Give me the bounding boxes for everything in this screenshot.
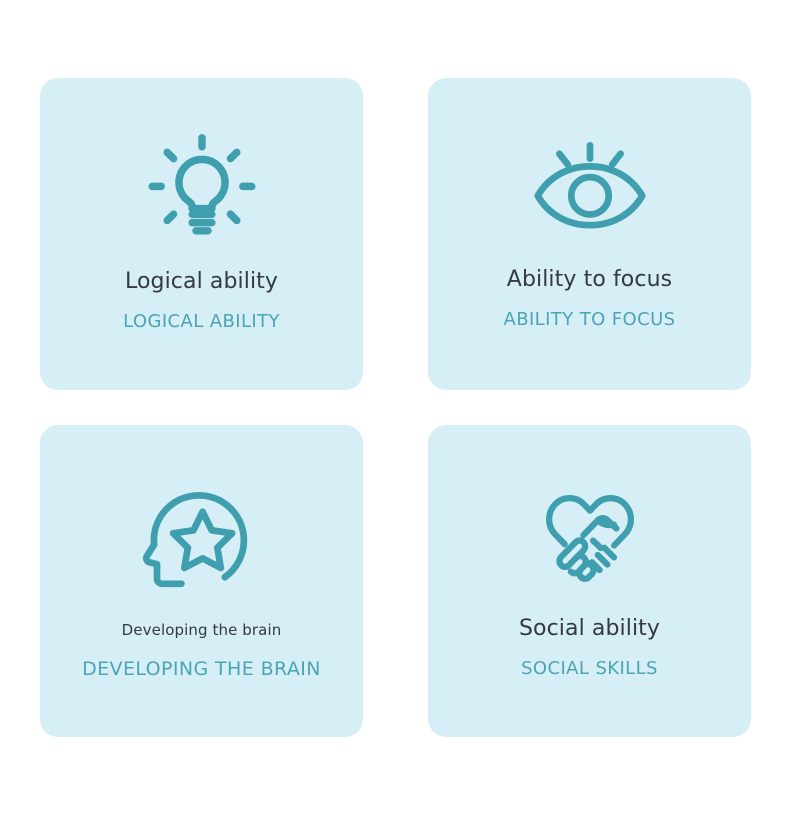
skills-card-grid: Logical ability LOGICAL ABILITY [40, 78, 752, 737]
card-subtitle: DEVELOPING THE BRAIN [82, 658, 321, 682]
card-title: Social ability [519, 615, 660, 643]
skills-card-board: Logical ability LOGICAL ABILITY [0, 0, 790, 831]
card-subtitle: LOGICAL ABILITY [123, 311, 280, 334]
card-title: Ability to focus [507, 266, 672, 294]
card-developing-the-brain[interactable]: Developing the brain DEVELOPING THE BRAI… [40, 425, 363, 737]
card-subtitle: SOCIAL SKILLS [521, 658, 658, 681]
card-title: Developing the brain [122, 621, 282, 640]
card-title: Logical ability [125, 268, 278, 296]
card-social-ability[interactable]: Social ability SOCIAL SKILLS [428, 425, 751, 737]
head-with-star-icon [142, 477, 262, 597]
lightbulb-icon [142, 130, 262, 250]
eye-icon [530, 128, 650, 248]
card-subtitle: ABILITY TO FOCUS [504, 309, 676, 332]
card-logical-ability[interactable]: Logical ability LOGICAL ABILITY [40, 78, 363, 390]
card-ability-to-focus[interactable]: Ability to focus ABILITY TO FOCUS [428, 78, 751, 390]
handshake-heart-icon [530, 477, 650, 597]
